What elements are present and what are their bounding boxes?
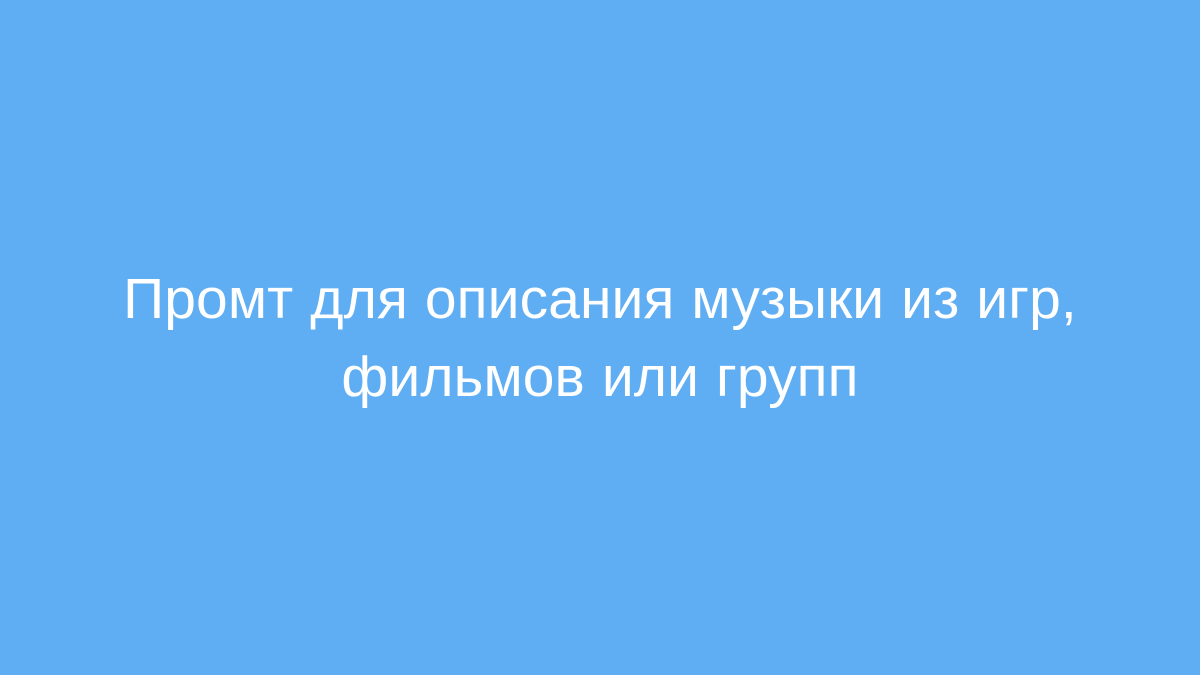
page-title: Промт для описания музыки из игр, фильмо… bbox=[0, 260, 1200, 416]
page-title-line-2: фильмов или групп bbox=[60, 338, 1140, 416]
cover-card: Промт для описания музыки из игр, фильмо… bbox=[0, 0, 1200, 675]
page-title-line-1: Промт для описания музыки из игр, bbox=[60, 260, 1140, 338]
